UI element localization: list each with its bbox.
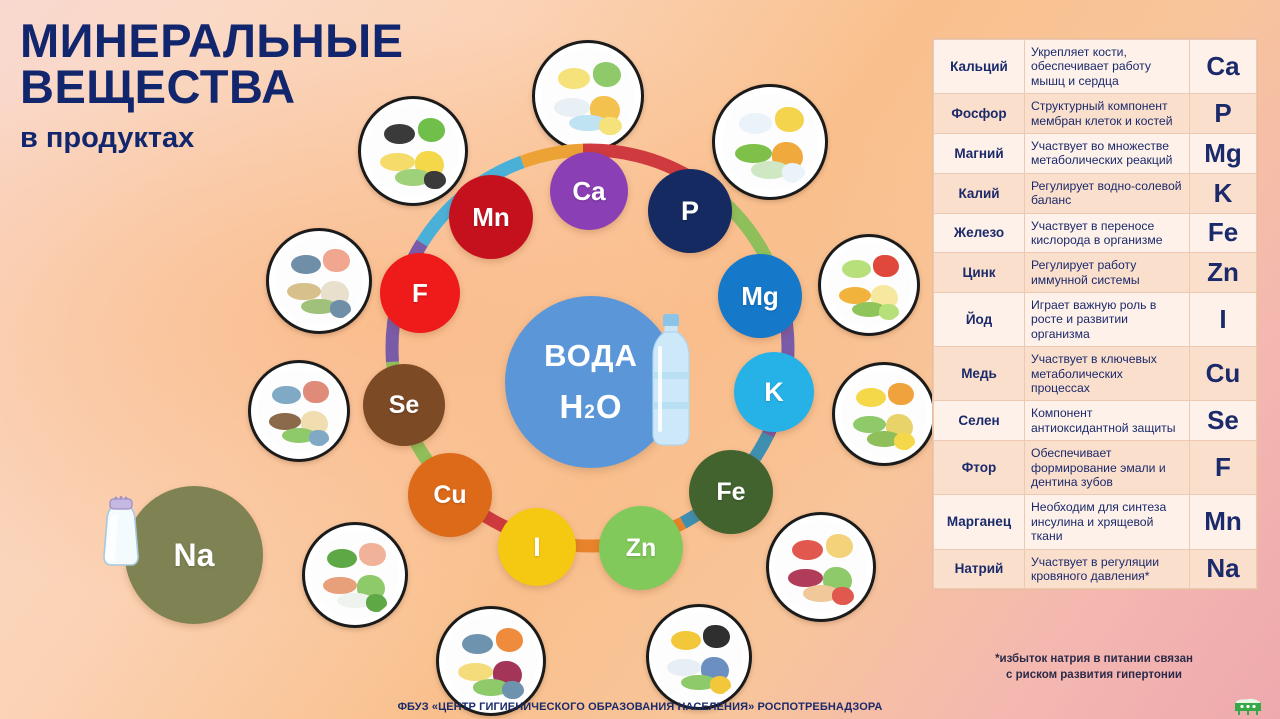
mineral-description-cell: Участвует в переносе кислорода в организ… — [1025, 213, 1190, 253]
water-bottle-icon — [645, 312, 697, 448]
table-footnote: *избыток натрия в питании связан с риско… — [932, 652, 1256, 683]
mineral-description-cell: Компонент антиоксидантной защиты — [1025, 401, 1190, 441]
food-circle-fluorine — [266, 228, 372, 334]
mineral-description-cell: Участвует в регуляции кровяного давления… — [1025, 549, 1190, 589]
mineral-symbol-cell: Mn — [1190, 495, 1257, 549]
table-row: МедьУчаствует в ключевых метаболических … — [934, 347, 1257, 401]
mineral-symbol-cell: Se — [1190, 401, 1257, 441]
food-plate — [257, 369, 342, 454]
mineral-description-cell: Регулирует водно-солевой баланс — [1025, 173, 1190, 213]
food-item — [888, 383, 914, 405]
mineral-bubble-label: Cu — [433, 483, 466, 508]
food-plate — [275, 237, 363, 325]
infographic-canvas: МИНЕРАЛЬНЫЕ ВЕЩЕСТВА в продуктах CaPMgKF… — [0, 0, 1280, 719]
mineral-name-cell: Кальций — [934, 40, 1025, 94]
mineral-bubble-na[interactable]: Na — [125, 486, 263, 624]
mineral-bubble-label: Zn — [626, 536, 657, 561]
table-row: ФосфорСтруктурный компонент мембран клет… — [934, 94, 1257, 134]
mineral-symbol-cell: Na — [1190, 549, 1257, 589]
mineral-name-cell: Натрий — [934, 549, 1025, 589]
mineral-name-cell: Фосфор — [934, 94, 1025, 134]
mineral-symbol-cell: F — [1190, 441, 1257, 495]
minerals-table: КальцийУкрепляет кости, обеспечивает раб… — [932, 38, 1258, 590]
food-item — [842, 260, 871, 279]
mineral-name-cell: Фтор — [934, 441, 1025, 495]
table-row: ЙодИграет важную роль в росте и развитии… — [934, 293, 1257, 347]
table-row: ФторОбеспечивает формирование эмали и де… — [934, 441, 1257, 495]
food-plate — [841, 371, 927, 457]
mineral-bubble-se[interactable]: Se — [363, 364, 445, 446]
table-row: СеленКомпонент антиоксидантной защитыSe — [934, 401, 1257, 441]
table-row: КальцийУкрепляет кости, обеспечивает раб… — [934, 40, 1257, 94]
food-item — [667, 659, 700, 677]
water-label: ВОДА — [544, 338, 638, 374]
mineral-description-cell: Участвует во множестве метаболических ре… — [1025, 133, 1190, 173]
food-item — [323, 577, 356, 595]
mineral-name-cell: Медь — [934, 347, 1025, 401]
mineral-description-cell: Регулирует работу иммунной системы — [1025, 253, 1190, 293]
mineral-bubble-mg[interactable]: Mg — [718, 254, 802, 338]
food-item — [327, 549, 357, 568]
footer-text: ФБУЗ «ЦЕНТР ГИГИЕНИЧЕСКОГО ОБРАЗОВАНИЯ Н… — [398, 701, 883, 713]
food-item — [832, 587, 854, 605]
food-plate — [827, 243, 912, 328]
mineral-name-cell: Марганец — [934, 495, 1025, 549]
mineral-bubble-mn[interactable]: Mn — [449, 175, 533, 259]
table-row: НатрийУчаствует в регуляции кровяного да… — [934, 549, 1257, 589]
mineral-bubble-k[interactable]: K — [734, 352, 814, 432]
footnote-line-2: с риском развития гипертонии — [932, 668, 1256, 684]
mineral-symbol-cell: Fe — [1190, 213, 1257, 253]
food-item — [323, 249, 349, 272]
food-item — [366, 594, 387, 612]
food-item — [593, 62, 621, 86]
mineral-symbol-cell: K — [1190, 173, 1257, 213]
water-formula: H2O — [559, 388, 622, 426]
mineral-bubble-zn[interactable]: Zn — [599, 506, 683, 590]
food-item — [879, 304, 899, 321]
food-item — [894, 433, 915, 450]
mineral-name-cell: Калий — [934, 173, 1025, 213]
food-item — [554, 98, 589, 117]
mineral-name-cell: Йод — [934, 293, 1025, 347]
mineral-bubble-label: P — [681, 198, 699, 225]
food-circle-selenium — [248, 360, 350, 462]
title-line-1: МИНЕРАЛЬНЫЕ — [20, 18, 540, 64]
mineral-symbol-cell: Ca — [1190, 40, 1257, 94]
footer-bar: ФБУЗ «ЦЕНТР ГИГИЕНИЧЕСКОГО ОБРАЗОВАНИЯ Н… — [0, 695, 1280, 719]
mineral-bubble-f[interactable]: F — [380, 253, 460, 333]
food-item — [291, 255, 321, 274]
food-item — [856, 388, 885, 407]
mineral-bubble-label: Mg — [741, 283, 779, 309]
mineral-bubble-label: Ca — [572, 178, 605, 204]
mineral-symbol-cell: Cu — [1190, 347, 1257, 401]
food-item — [703, 625, 729, 648]
food-item — [873, 255, 898, 277]
mineral-description-cell: Укрепляет кости, обеспечивает работу мыш… — [1025, 40, 1190, 94]
food-item — [710, 676, 731, 694]
mineral-name-cell: Цинк — [934, 253, 1025, 293]
mineral-bubble-label: Se — [389, 393, 420, 418]
mineral-name-cell: Железо — [934, 213, 1025, 253]
mineral-bubble-label: Fe — [716, 480, 745, 505]
mineral-description-cell: Обеспечивает формирование эмали и дентин… — [1025, 441, 1190, 495]
mineral-bubble-ca[interactable]: Ca — [550, 152, 628, 230]
food-item — [671, 631, 701, 650]
food-item — [309, 430, 329, 447]
mineral-bubble-label: Mn — [472, 204, 510, 230]
green-building-logo-icon — [1230, 696, 1266, 716]
mineral-description-cell: Играет важную роль в росте и развитии ор… — [1025, 293, 1190, 347]
mineral-description-cell: Участвует в ключевых метаболических проц… — [1025, 347, 1190, 401]
table-row: КалийРегулирует водно-солевой балансK — [934, 173, 1257, 213]
mineral-name-cell: Селен — [934, 401, 1025, 441]
table-row: ЦинкРегулирует работу иммунной системыZn — [934, 253, 1257, 293]
table-row: ЖелезоУчаствует в переносе кислорода в о… — [934, 213, 1257, 253]
mineral-name-cell: Магний — [934, 133, 1025, 173]
mineral-bubble-fe[interactable]: Fe — [689, 450, 773, 534]
mineral-bubble-label: I — [533, 534, 541, 561]
mineral-bubble-label: Na — [174, 539, 215, 571]
food-circle-magnesium — [818, 234, 920, 336]
mineral-symbol-cell: Zn — [1190, 253, 1257, 293]
footnote-line-1: *избыток натрия в питании связан — [932, 652, 1256, 668]
food-plate — [655, 613, 743, 701]
food-item — [330, 300, 351, 318]
food-item — [496, 628, 523, 652]
mineral-bubble-label: K — [764, 379, 784, 406]
food-item — [839, 287, 871, 304]
food-circle-potassium — [832, 362, 936, 466]
mineral-description-cell: Структурный компонент мембран клеток и к… — [1025, 94, 1190, 134]
mineral-bubble-cu[interactable]: Cu — [408, 453, 492, 537]
food-item — [826, 534, 853, 558]
food-item — [287, 283, 320, 301]
food-item — [558, 68, 590, 89]
food-plate — [445, 615, 537, 707]
mineral-symbol-cell: Mg — [1190, 133, 1257, 173]
salt-shaker-icon — [98, 494, 144, 568]
mineral-bubble-label: F — [412, 280, 428, 306]
food-item — [269, 413, 301, 430]
food-item — [272, 386, 301, 405]
table-row: МагнийУчаствует во множестве метаболичес… — [934, 133, 1257, 173]
mineral-symbol-cell: P — [1190, 94, 1257, 134]
food-item — [462, 634, 493, 654]
food-item — [303, 381, 328, 403]
mineral-description-cell: Необходим для синтеза инсулина и хрящево… — [1025, 495, 1190, 549]
table-row: МарганецНеобходим для синтеза инсулина и… — [934, 495, 1257, 549]
mineral-bubble-p[interactable]: P — [648, 169, 732, 253]
mineral-bubble-i[interactable]: I — [498, 508, 576, 586]
title-line-2: ВЕЩЕСТВА — [20, 64, 540, 110]
mineral-symbol-cell: I — [1190, 293, 1257, 347]
